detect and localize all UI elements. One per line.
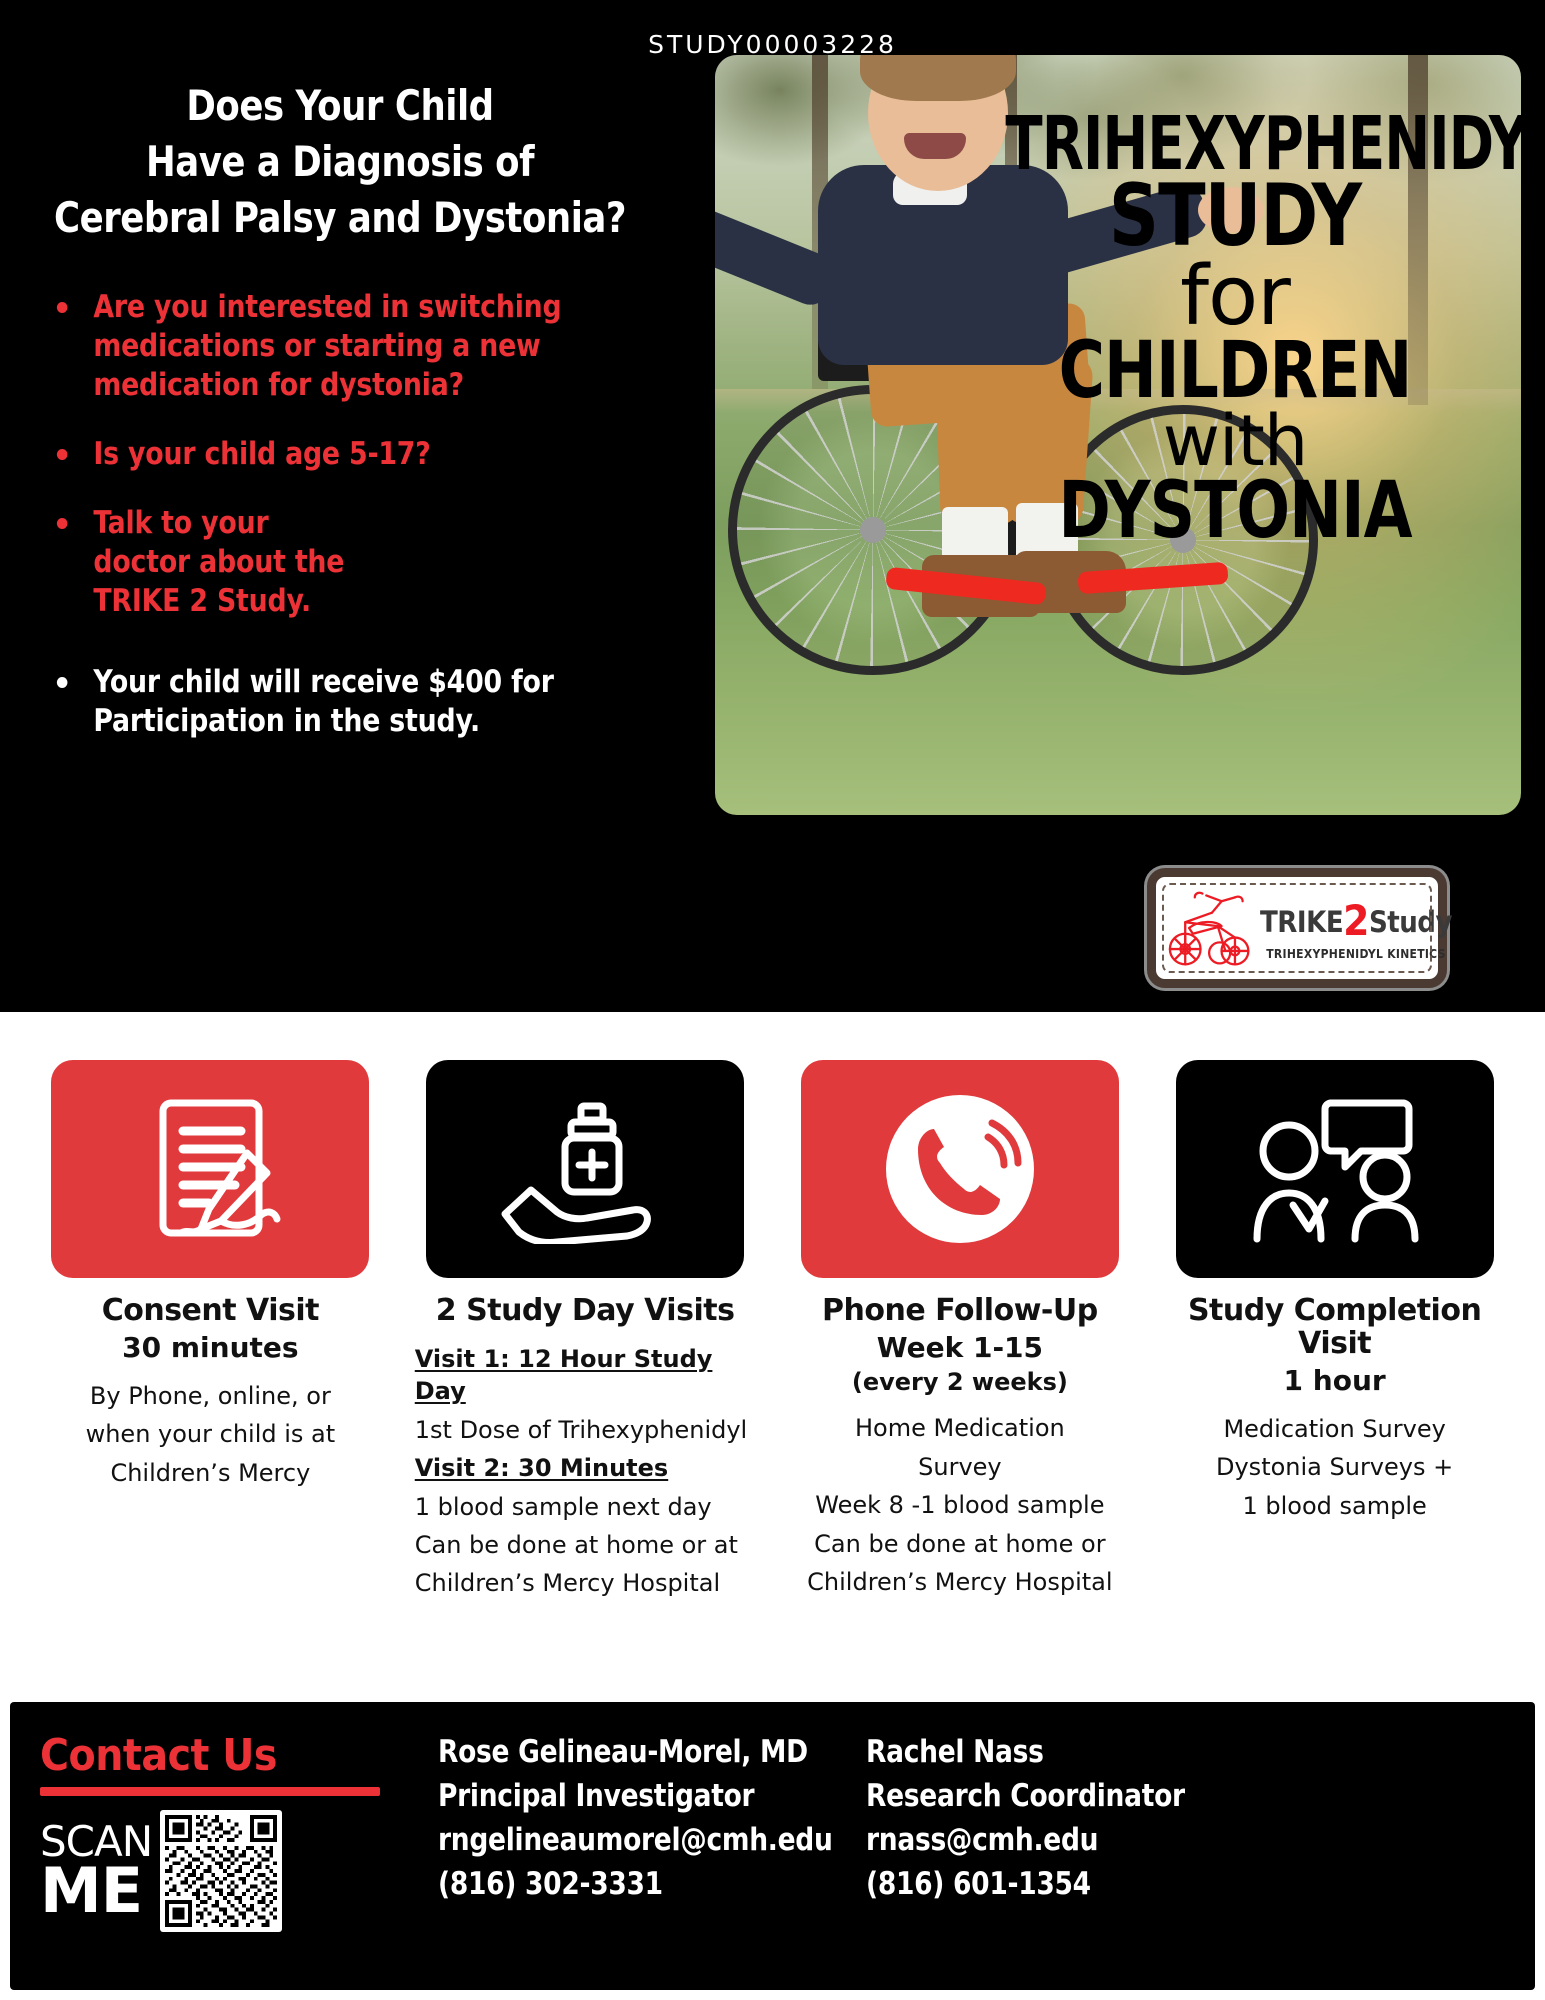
signed-document-icon [135,1089,285,1249]
card-detail-line: Week 8 -1 blood sample [790,1489,1131,1521]
logo-tagline: TRIHEXYPHENIDYL KINETICS [1260,947,1452,961]
title-line-dystonia: DYSTONIA [983,475,1487,548]
headline-line-3: Cerebral Palsy and Dystonia? [49,190,632,246]
study-id-label: STUDY00003228 [0,30,1545,59]
title-line-for: for [955,258,1515,335]
card-detail-line: By Phone, online, or [40,1380,381,1412]
bullet-item: Are you interested in switching medicati… [30,288,625,405]
card-icon-tile [426,1060,744,1278]
card-detail-line: Visit 2: 30 Minutes [415,1452,756,1484]
card-detail-line: Medication Survey [1164,1413,1505,1445]
contact-footer: Contact Us SCAN ME [10,1702,1535,1990]
hand-holding-medicine-icon [495,1094,675,1244]
phone-call-icon [876,1085,1044,1253]
card-study-day-visits: 2 Study Day Visits Visit 1: 12 Hour Stud… [415,1060,756,1700]
person-phone[interactable]: (816) 302-3331 [438,1862,837,1906]
card-detail-line: 1st Dose of Trihexyphenidyl [415,1414,756,1446]
child-hair [860,55,1016,101]
card-consent-visit: Consent Visit 30 minutes By Phone, onlin… [40,1060,381,1700]
card-title: Consent Visit [102,1294,319,1327]
card-detail-line: Children’s Mercy [40,1457,381,1489]
contact-person-research-coordinator: Rachel Nass Research Coordinator rnass@c… [866,1730,1473,1906]
card-icon-tile [801,1060,1119,1278]
person-email[interactable]: rngelineaumorel@cmh.edu [438,1818,837,1862]
study-steps-cards: Consent Visit 30 minutes By Phone, onlin… [0,1060,1545,1700]
card-detail-line: Children’s Mercy Hospital [415,1567,756,1599]
scan-me-block: SCAN ME [40,1810,430,1932]
card-detail-line: Children’s Mercy Hospital [790,1566,1131,1598]
card-detail-line: 1 blood sample [1164,1490,1505,1522]
logo-wordmark: TRIKE2Study [1260,896,1452,945]
contact-person-principal-investigator: Rose Gelineau-Morel, MD Principal Invest… [438,1730,837,1906]
card-detail-line: 1 blood sample next day [415,1491,756,1523]
person-phone[interactable]: (816) 601-1354 [866,1862,1473,1906]
card-phone-follow-up: Phone Follow-Up Week 1-15 (every 2 weeks… [790,1060,1131,1700]
card-subtitle: Week 1-15 [877,1331,1043,1364]
qr-code[interactable] [160,1810,282,1932]
card-study-completion-visit: Study Completion Visit 1 hour Medication… [1164,1060,1505,1700]
tricycle-icon [1164,884,1260,972]
bullet-item: Is your child age 5-17? [30,435,625,474]
card-title: Phone Follow-Up [822,1294,1098,1327]
card-body: By Phone, online, or when your child is … [40,1374,381,1489]
card-detail-line: Visit 1: 12 Hour Study Day [415,1343,756,1408]
eligibility-bullet-list: Are you interested in switching medicati… [30,288,650,741]
scan-me-line-2: ME [40,1862,152,1919]
card-subtitle-2: (every 2 weeks) [852,1368,1068,1396]
bullet-item: Talk to your doctor about the TRIKE 2 St… [30,504,347,621]
card-detail-line: Survey [790,1451,1131,1483]
card-detail-line: Can be done at home or [790,1528,1131,1560]
person-name: Rachel Nass [866,1730,1473,1774]
card-icon-tile [1176,1060,1494,1278]
card-subtitle: 1 hour [1284,1364,1386,1397]
card-title: Study Completion Visit [1164,1294,1505,1360]
headline: Does Your Child Have a Diagnosis of Cere… [49,78,632,246]
person-role: Research Coordinator [866,1774,1473,1818]
headline-line-2: Have a Diagnosis of [49,134,632,190]
title-line-study: STUDY [983,176,1487,257]
card-body: Medication Survey Dystonia Surveys + 1 b… [1164,1407,1505,1522]
card-detail-line: when your child is at [40,1418,381,1450]
card-detail-line: Home Medication [790,1412,1131,1444]
card-subtitle: 30 minutes [122,1331,298,1364]
card-icon-tile [51,1060,369,1278]
people-conversation-icon [1245,1089,1425,1249]
hero-section: STUDY00003228 [0,0,1545,1012]
card-title: 2 Study Day Visits [436,1294,735,1327]
person-name: Rose Gelineau-Morel, MD [438,1730,837,1774]
card-body: Visit 1: 12 Hour Study Day 1st Dose of T… [415,1337,756,1600]
bullet-item: Your child will receive $400 for Partici… [30,663,625,741]
headline-line-1: Does Your Child [49,78,632,134]
title-line-children: CHILDREN [983,335,1487,408]
trike2study-logo: TRIKE2Study TRIHEXYPHENIDYL KINETICS [1147,868,1447,988]
hero-title: TRIHEXYPHENIDYL STUDY for CHILDREN with … [955,110,1515,548]
contact-us-underline [40,1787,380,1796]
person-email[interactable]: rnass@cmh.edu [866,1818,1473,1862]
card-detail-line: Can be done at home or at [415,1529,756,1561]
card-body: Home Medication Survey Week 8 -1 blood s… [790,1406,1131,1598]
contact-us-column: Contact Us SCAN ME [40,1730,430,1932]
person-role: Principal Investigator [438,1774,837,1818]
hero-left-column: Does Your Child Have a Diagnosis of Cere… [30,78,650,771]
card-detail-line: Dystonia Surveys + [1164,1451,1505,1483]
scan-me-label: SCAN ME [40,1823,152,1919]
contact-us-heading: Contact Us [40,1730,430,1781]
